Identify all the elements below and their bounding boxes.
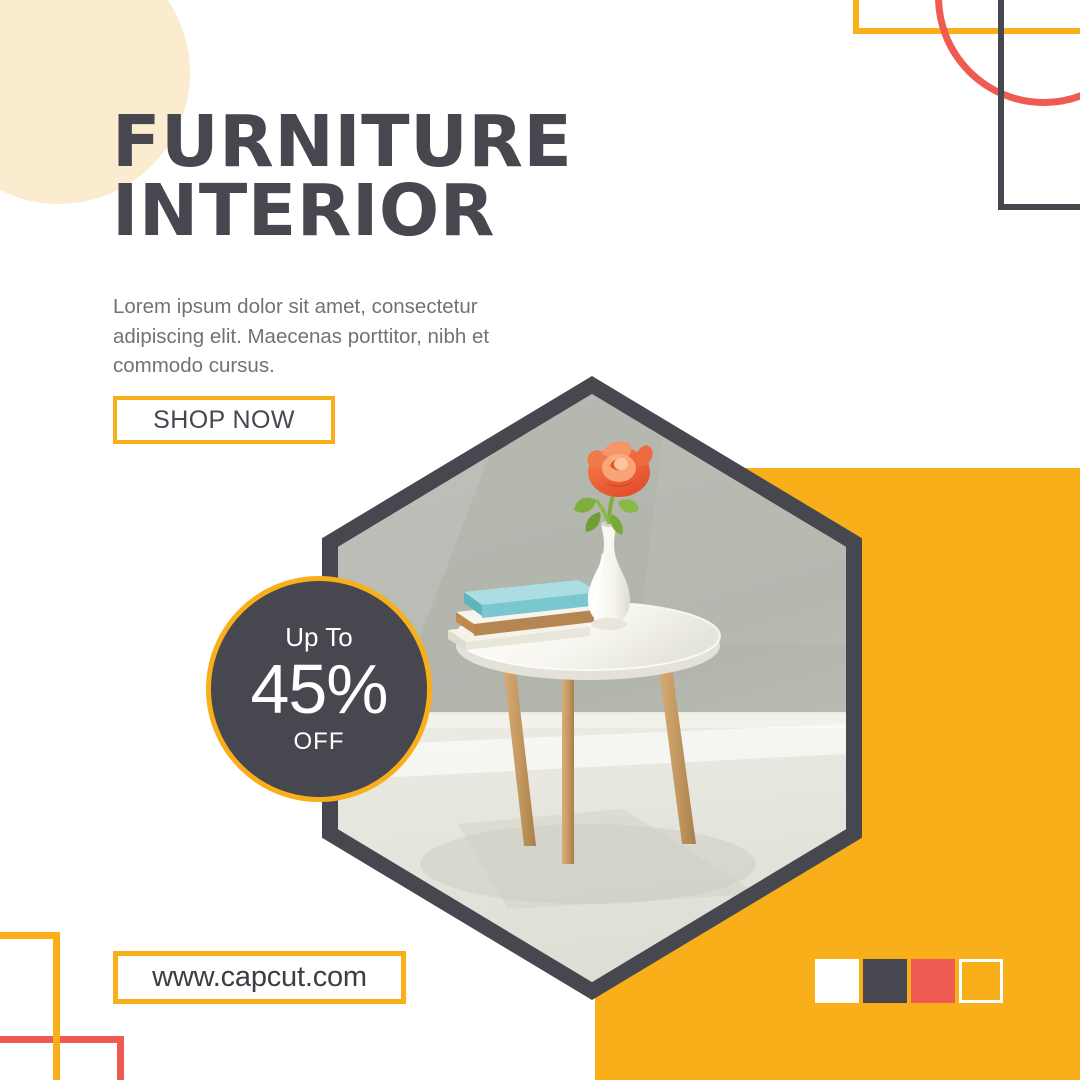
dark-rectangle-outline-decoration (998, 0, 1080, 210)
swatch-coral (911, 959, 955, 1003)
swatch-white (815, 959, 859, 1003)
swatch-outline (959, 959, 1003, 1003)
headline-line-2: INTERIOR (112, 177, 652, 246)
badge-percent-value: 45% (250, 654, 387, 724)
swatch-dark (863, 959, 907, 1003)
subtitle-text: Lorem ipsum dolor sit amet, consectetur … (113, 292, 533, 381)
shop-now-button[interactable]: SHOP NOW (113, 396, 335, 444)
website-url-label: www.capcut.com (152, 961, 367, 994)
poster-canvas: FURNITURE INTERIOR Lorem ipsum dolor sit… (0, 0, 1080, 1080)
badge-off-label: OFF (294, 730, 345, 754)
color-swatch-row (815, 959, 1003, 1003)
yellow-square-outline-decoration (0, 932, 60, 1080)
website-url-box[interactable]: www.capcut.com (113, 951, 406, 1004)
page-title: FURNITURE INTERIOR (112, 108, 652, 246)
discount-badge: Up To 45% OFF (206, 576, 432, 802)
badge-up-to-label: Up To (285, 624, 352, 650)
shop-now-label: SHOP NOW (153, 406, 295, 435)
